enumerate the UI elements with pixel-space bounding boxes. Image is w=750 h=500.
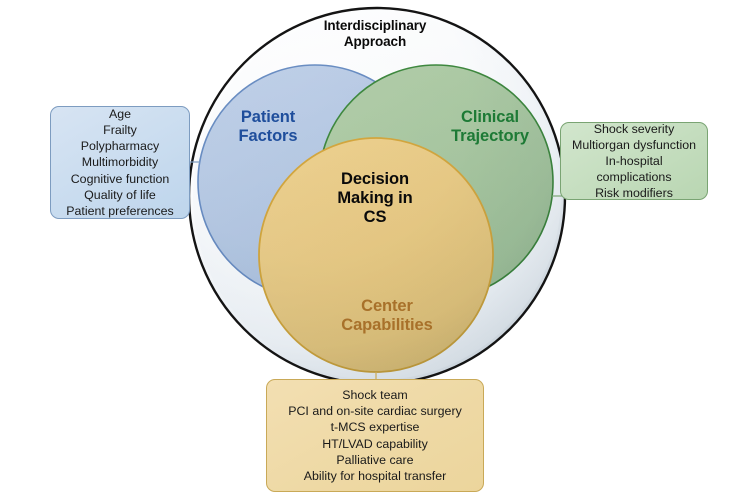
callout-center-capabilities: Shock team PCI and on-site cardiac surge…	[266, 379, 484, 492]
circle-label-clinical-trajectory: Clinical Trajectory	[425, 108, 555, 147]
venn-core-label: Decision Making in CS	[315, 170, 435, 227]
circle-label-patient-factors: Patient Factors	[208, 108, 328, 147]
callout-patient-factors: Age Frailty Polypharmacy Multimorbidity …	[50, 106, 190, 219]
outer-circle-label: Interdisciplinary Approach	[305, 18, 445, 50]
callout-clinical-trajectory: Shock severity Multiorgan dysfunction In…	[560, 122, 708, 200]
circle-label-center-capabilities: Center Capabilities	[312, 297, 462, 336]
figure-canvas: Interdisciplinary Approach Patient Facto…	[0, 0, 750, 500]
